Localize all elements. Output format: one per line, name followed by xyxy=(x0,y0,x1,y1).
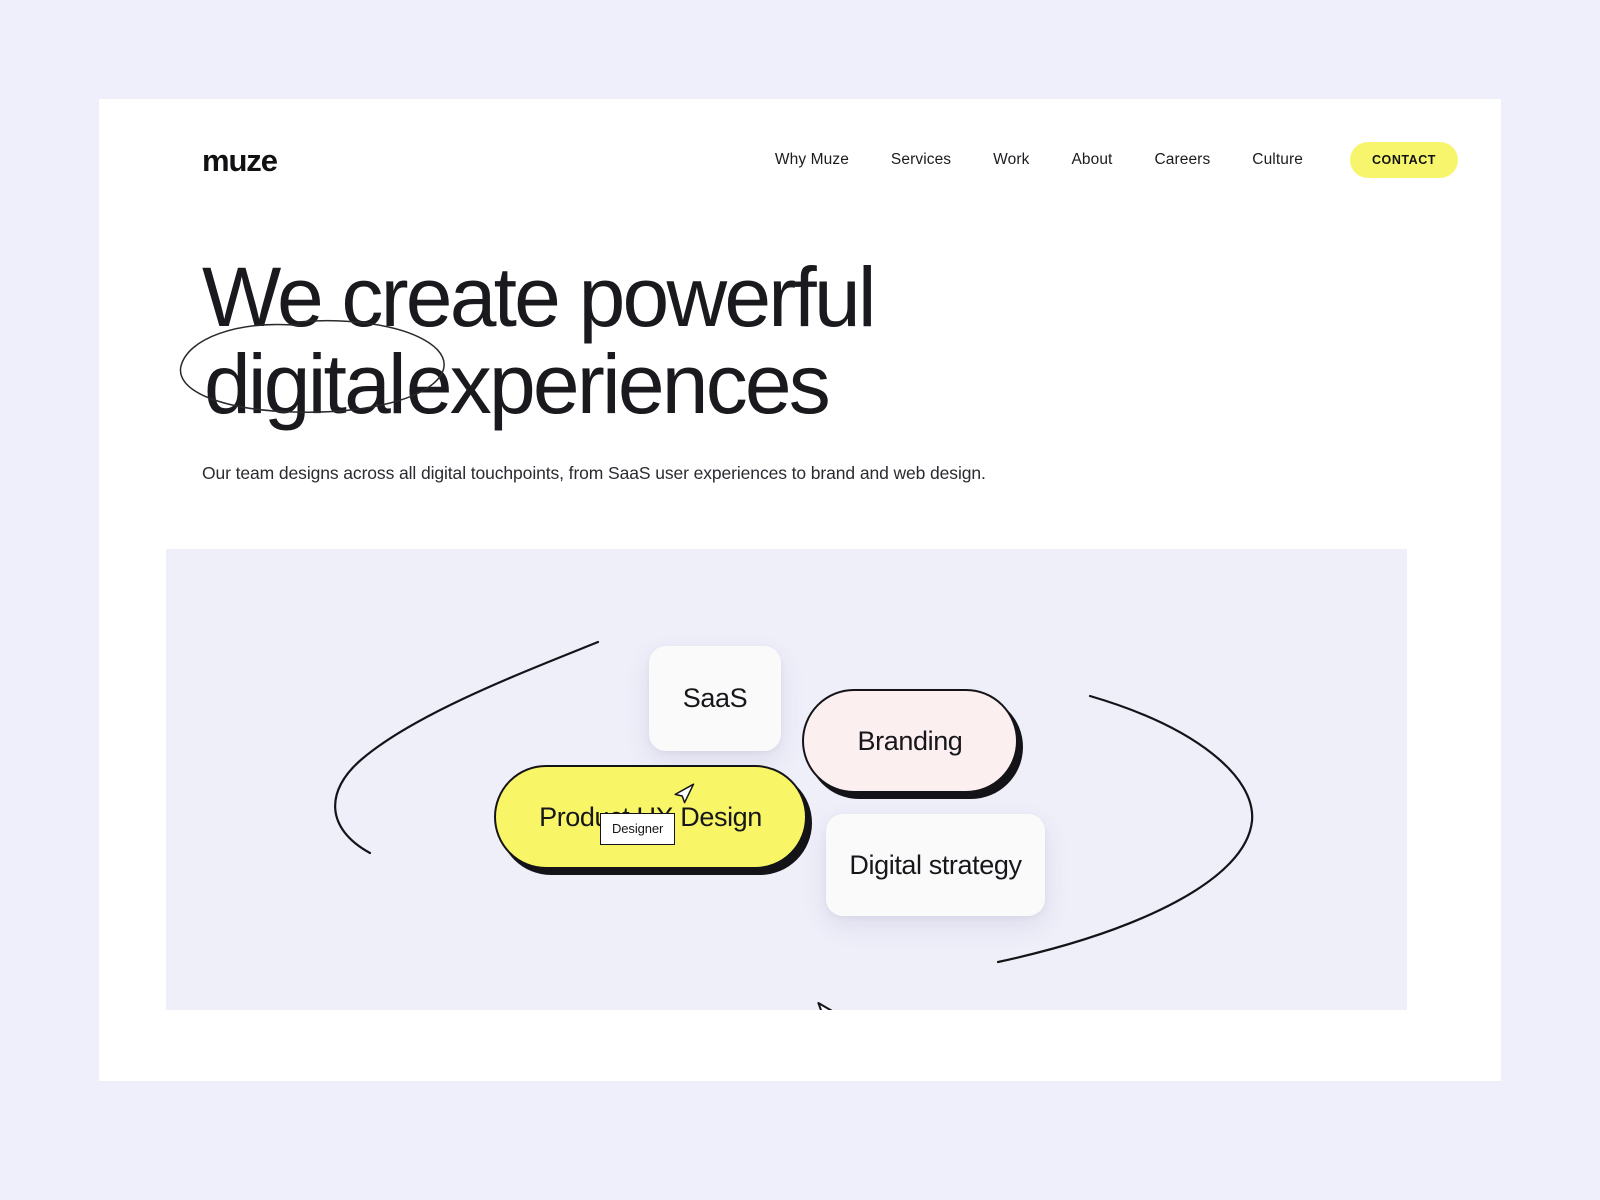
page-title: We create powerful digitalexperiences xyxy=(202,254,1102,427)
nav-item-careers[interactable]: Careers xyxy=(1133,143,1231,177)
headline-line-1: We create powerful xyxy=(202,254,1102,341)
headline-line-2: digitalexperiences xyxy=(202,341,1102,428)
nav-item-why-muze[interactable]: Why Muze xyxy=(754,143,870,177)
nav-item-about[interactable]: About xyxy=(1050,143,1133,177)
page-card: muze Why Muze Services Work About Career… xyxy=(99,99,1501,1081)
nav-item-work[interactable]: Work xyxy=(972,143,1050,177)
chip-branding[interactable]: Branding xyxy=(802,689,1018,793)
nav-item-culture[interactable]: Culture xyxy=(1231,143,1324,177)
site-header: muze Why Muze Services Work About Career… xyxy=(202,130,1458,190)
hero-section: We create powerful digitalexperiences Ou… xyxy=(202,254,1402,486)
headline-circled-text: digital xyxy=(204,337,404,431)
main-navigation: Why Muze Services Work About Careers Cul… xyxy=(754,142,1458,178)
headline-circled-word: digital xyxy=(202,341,406,428)
nav-item-services[interactable]: Services xyxy=(870,143,972,177)
cursor-label-designer-1: Designer xyxy=(600,813,675,845)
headline-rest-text: experiences xyxy=(406,337,828,431)
contact-button[interactable]: CONTACT xyxy=(1350,142,1458,178)
chip-digital-strategy[interactable]: Digital strategy xyxy=(826,814,1045,916)
cursor-arrow-icon xyxy=(815,1000,841,1010)
hero-subheadline: Our team designs across all digital touc… xyxy=(202,460,1402,486)
brand-logo[interactable]: muze xyxy=(202,145,277,176)
chip-saas[interactable]: SaaS xyxy=(649,646,781,751)
illustration-panel: SaaS Branding Product UX Design Digital … xyxy=(166,549,1407,1010)
